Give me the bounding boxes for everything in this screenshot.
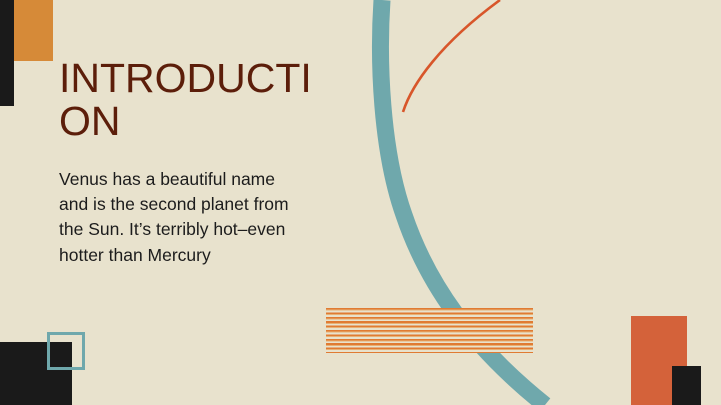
amber-square-topleft-decoration	[14, 0, 53, 61]
page-title: INTRODUCTION	[59, 57, 327, 142]
teal-outlined-square-decoration	[47, 332, 85, 370]
orange-arc-icon	[403, 0, 500, 112]
slide-body-container: Venus has a beautiful name and is the se…	[59, 167, 291, 268]
slide-body-text: Venus has a beautiful name and is the se…	[59, 167, 291, 268]
black-bar-topleft-decoration	[0, 0, 14, 106]
presentation-slide: INTRODUCTION Venus has a beautiful name …	[0, 0, 721, 405]
slide-title-container: INTRODUCTION	[59, 57, 327, 142]
black-rectangle-bottomright-decoration	[672, 366, 701, 405]
orange-stripe-block-decoration	[326, 308, 533, 353]
